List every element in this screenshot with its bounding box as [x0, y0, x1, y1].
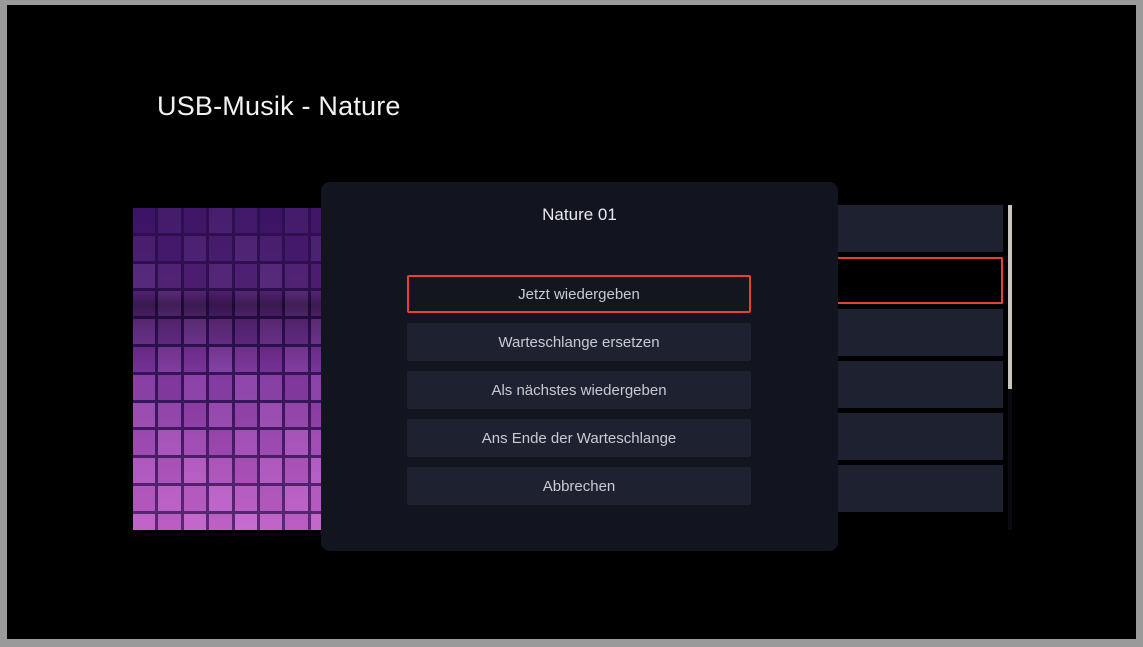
- album-art-tile: [133, 264, 155, 289]
- album-art-tile: [158, 514, 180, 530]
- dialog-menu-item-2[interactable]: Als nächstes wiedergeben: [407, 371, 751, 409]
- album-art-tile: [235, 208, 257, 233]
- album-art-tile: [184, 403, 206, 428]
- album-art-tile: [158, 430, 180, 455]
- album-art-tile: [285, 458, 307, 483]
- album-art-tile: [260, 347, 282, 372]
- album-art-tile: [133, 375, 155, 400]
- album-art-tile: [209, 347, 231, 372]
- album-art-tile: [184, 430, 206, 455]
- album-art-tile: [133, 486, 155, 511]
- album-art-tile: [209, 486, 231, 511]
- album-art-tile: [260, 319, 282, 344]
- album-art-tile: [133, 291, 155, 316]
- album-art-tile: [235, 319, 257, 344]
- album-art-tile: [285, 403, 307, 428]
- album-art-tile: [260, 514, 282, 530]
- album-art-tile: [285, 236, 307, 261]
- album-art-tile: [285, 514, 307, 530]
- dialog-title: Nature 01: [321, 205, 838, 225]
- dialog-menu: Jetzt wiedergebenWarteschlange ersetzenA…: [407, 275, 751, 515]
- album-art-tile: [260, 291, 282, 316]
- album-art-tile: [235, 375, 257, 400]
- context-menu-dialog: Nature 01 Jetzt wiedergebenWarteschlange…: [321, 182, 838, 551]
- album-art-tile: [235, 291, 257, 316]
- album-art-tile: [158, 236, 180, 261]
- album-art-tile: [235, 458, 257, 483]
- album-art-tile: [285, 264, 307, 289]
- album-art-tile: [133, 514, 155, 530]
- album-art-tile: [235, 347, 257, 372]
- album-art-tile: [260, 375, 282, 400]
- album-art-tile: [184, 514, 206, 530]
- page-title: USB-Musik - Nature: [157, 91, 401, 122]
- album-art-tile: [209, 375, 231, 400]
- dialog-menu-item-label: Abbrechen: [543, 478, 616, 495]
- album-art-tile: [285, 430, 307, 455]
- album-art-tile: [209, 208, 231, 233]
- album-art-tile: [209, 319, 231, 344]
- album-art-tile: [209, 264, 231, 289]
- album-art-tile: [260, 208, 282, 233]
- album-art-tile: [209, 291, 231, 316]
- album-art-tile: [184, 291, 206, 316]
- album-art-tile: [209, 236, 231, 261]
- list-scrollbar-thumb[interactable]: [1008, 205, 1012, 389]
- album-art-tile: [285, 486, 307, 511]
- dialog-menu-item-label: Als nächstes wiedergeben: [491, 382, 666, 399]
- album-art-tile: [184, 486, 206, 511]
- album-art-tile: [260, 236, 282, 261]
- album-art-tile: [260, 403, 282, 428]
- album-art-tile: [209, 403, 231, 428]
- album-art-tile: [158, 347, 180, 372]
- album-art-tile: [158, 319, 180, 344]
- dialog-menu-item-0[interactable]: Jetzt wiedergeben: [407, 275, 751, 313]
- album-art-tile: [260, 458, 282, 483]
- album-art-tile: [184, 264, 206, 289]
- album-art-tile: [133, 208, 155, 233]
- album-art-tile: [133, 236, 155, 261]
- album-art-tile: [235, 264, 257, 289]
- album-art-tile: [209, 430, 231, 455]
- album-art-tile: [133, 319, 155, 344]
- album-art-tile: [158, 486, 180, 511]
- album-art-tile: [260, 486, 282, 511]
- album-art-tile: [184, 347, 206, 372]
- album-art-tile: [285, 291, 307, 316]
- album-art-tile: [158, 375, 180, 400]
- album-art-tile: [158, 458, 180, 483]
- dialog-menu-item-4[interactable]: Abbrechen: [407, 467, 751, 505]
- dialog-menu-item-1[interactable]: Warteschlange ersetzen: [407, 323, 751, 361]
- album-art-tile: [184, 375, 206, 400]
- album-art-tile: [158, 403, 180, 428]
- album-art-tile: [184, 236, 206, 261]
- album-art: [133, 208, 333, 530]
- album-art-tile: [133, 458, 155, 483]
- dialog-menu-item-3[interactable]: Ans Ende der Warteschlange: [407, 419, 751, 457]
- album-art-tile: [158, 208, 180, 233]
- album-art-tile: [285, 347, 307, 372]
- album-art-tile: [184, 458, 206, 483]
- album-art-tile: [285, 319, 307, 344]
- album-art-tile: [184, 319, 206, 344]
- album-art-tile: [133, 347, 155, 372]
- album-art-tile: [209, 514, 231, 530]
- album-art-tile: [235, 236, 257, 261]
- album-art-tile: [260, 264, 282, 289]
- album-art-tile: [133, 430, 155, 455]
- album-art-tile: [133, 403, 155, 428]
- album-art-tile: [235, 514, 257, 530]
- album-art-tile: [184, 208, 206, 233]
- album-art-tile: [209, 458, 231, 483]
- dialog-menu-item-label: Jetzt wiedergeben: [518, 286, 640, 303]
- album-art-tile: [158, 291, 180, 316]
- album-art-tile: [235, 486, 257, 511]
- album-art-tile: [235, 430, 257, 455]
- album-art-tile: [260, 430, 282, 455]
- album-art-tile: [235, 403, 257, 428]
- tv-screen: USB-Musik - Nature Nature 01 Jetzt wiede…: [7, 5, 1136, 639]
- album-art-tile: [285, 375, 307, 400]
- album-art-tile: [285, 208, 307, 233]
- dialog-menu-item-label: Warteschlange ersetzen: [498, 334, 659, 351]
- album-art-tile: [158, 264, 180, 289]
- dialog-menu-item-label: Ans Ende der Warteschlange: [482, 430, 677, 447]
